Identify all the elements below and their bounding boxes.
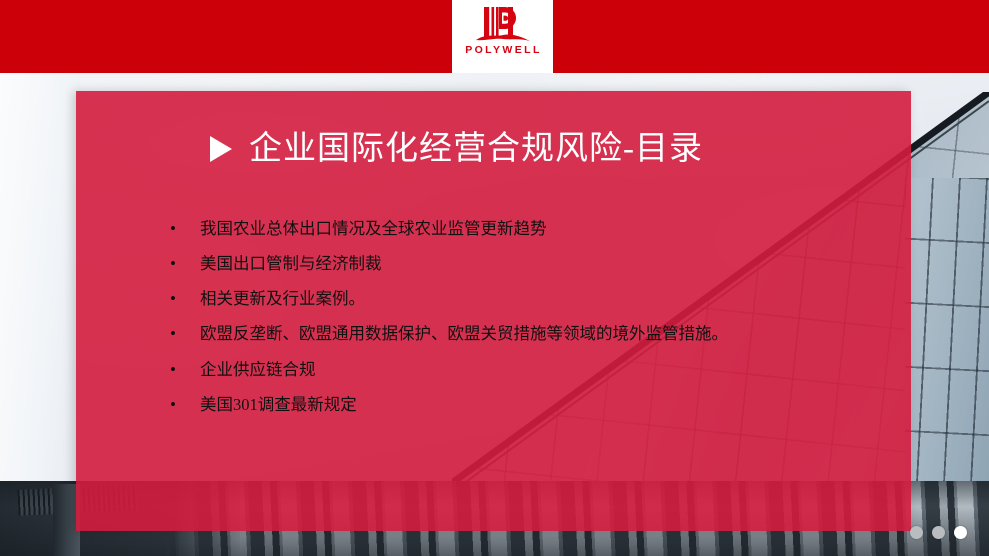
right-tower-slice [905, 178, 989, 483]
window-mullions-horizontal [905, 178, 989, 483]
list-item: 我国农业总体出口情况及全球农业监管更新趋势 [164, 219, 884, 240]
pagination-dot-2[interactable] [932, 526, 945, 539]
pagination-dots[interactable] [910, 526, 967, 539]
list-item: 美国出口管制与经济制裁 [164, 254, 884, 275]
list-item: 企业供应链合规 [164, 360, 884, 381]
polywell-p-mark-icon [472, 4, 534, 44]
play-triangle-icon [210, 136, 232, 162]
slide-title: 企业国际化经营合规风险-目录 [249, 131, 703, 167]
header-bar: POLYWELL [0, 0, 989, 73]
list-item: 相关更新及行业案例。 [164, 289, 884, 310]
list-item: 欧盟反垄断、欧盟通用数据保护、欧盟关贸措施等领域的境外监管措施。 [164, 324, 884, 345]
list-item: 美国301调查最新规定 [164, 395, 884, 416]
sky-region [0, 73, 80, 493]
pagination-dot-1[interactable] [910, 526, 923, 539]
content-panel: 企业国际化经营合规风险-目录 我国农业总体出口情况及全球农业监管更新趋势 美国出… [76, 91, 911, 531]
pagination-dot-3[interactable] [954, 526, 967, 539]
logo-container: POLYWELL [452, 0, 553, 73]
agenda-list: 我国农业总体出口情况及全球农业监管更新趋势 美国出口管制与经济制裁 相关更新及行… [164, 219, 884, 430]
title-row: 企业国际化经营合规风险-目录 [210, 131, 703, 167]
logo-wordmark: POLYWELL [463, 45, 542, 56]
presentation-slide: POLYWELL 企业国际化经营合规风险-目录 我国农业总体出口情况及全球农业监… [0, 0, 989, 556]
